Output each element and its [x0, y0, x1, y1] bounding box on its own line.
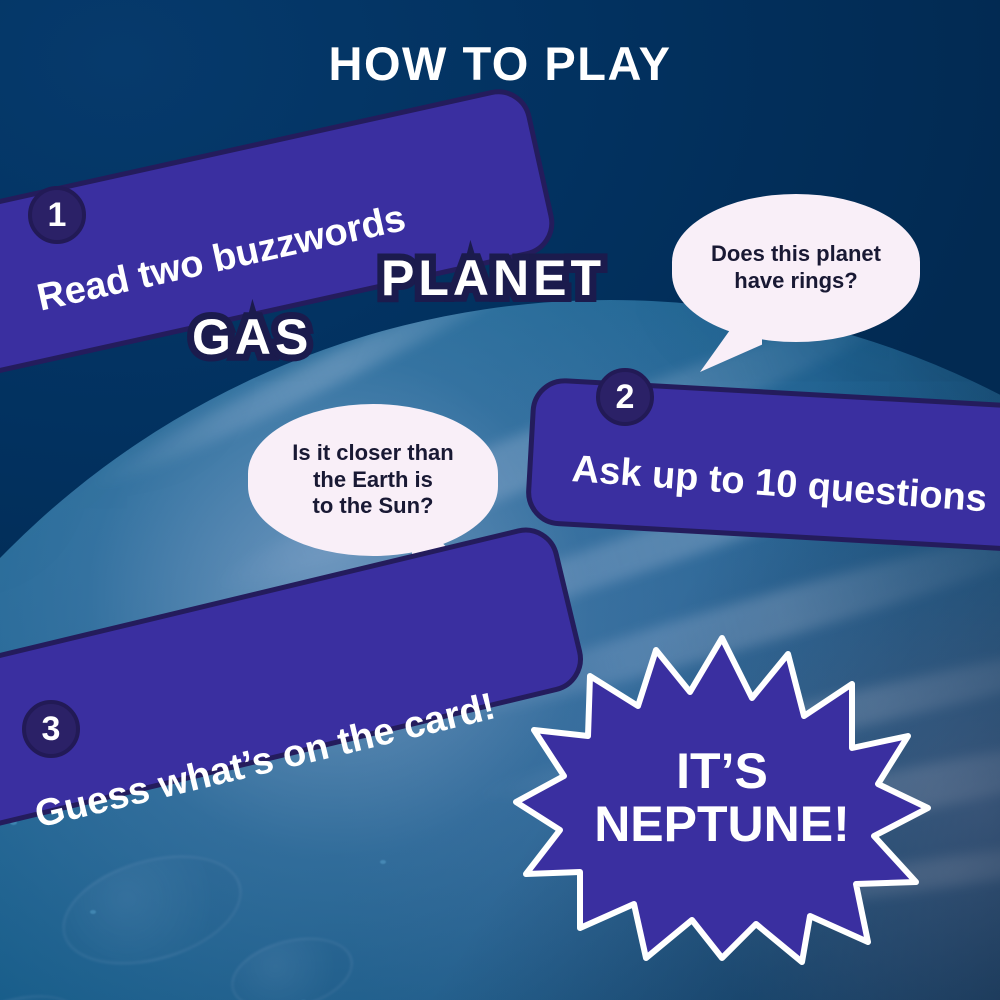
speech-bubble-2: Is it closer than the Earth is to the Su… — [248, 404, 498, 556]
step-number-badge-1: 1 — [28, 186, 86, 244]
bubble-2-line-3: to the Sun? — [313, 493, 434, 518]
buzzword-planet: PLANET — [381, 249, 605, 307]
page-title: HOW TO PLAY — [0, 36, 1000, 91]
how-to-play-infographic: HOW TO PLAY Read two buzzwords 1 PLANET … — [0, 0, 1000, 1000]
bubble-1-line-1: Does this planet — [711, 241, 881, 266]
step-number-badge-3: 3 — [22, 700, 80, 758]
speech-bubble-1: Does this planet have rings? — [672, 194, 920, 342]
bubble-2-line-1: Is it closer than — [292, 440, 453, 465]
starburst-shape-icon — [516, 632, 928, 964]
bubble-2-line-2: the Earth is — [313, 467, 433, 492]
buzzword-gas: GAS — [192, 308, 312, 366]
bubble-1-line-2: have rings? — [734, 268, 857, 293]
step-number-badge-2: 2 — [596, 368, 654, 426]
answer-starburst: IT’S NEPTUNE! — [516, 632, 928, 964]
